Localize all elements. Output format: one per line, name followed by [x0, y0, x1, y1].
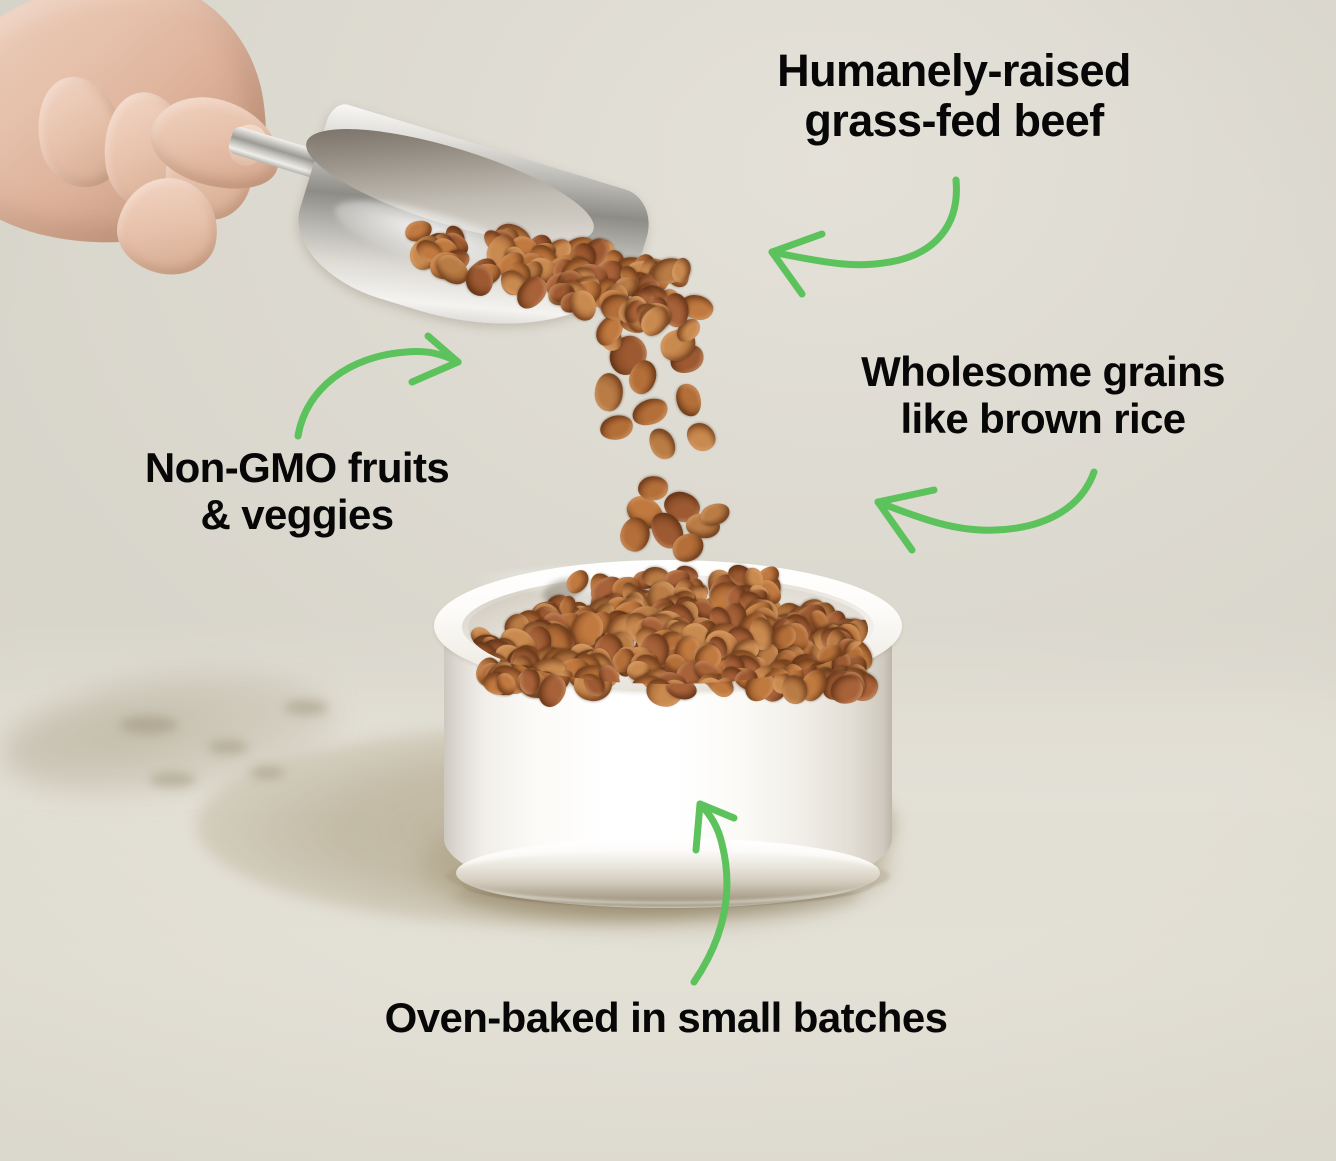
callout-fruits: Non-GMO fruits & veggies — [82, 444, 512, 538]
callout-beef-line1: Humanely-raised — [744, 46, 1164, 96]
kibble-piece — [672, 381, 704, 419]
callout-grains: Wholesome grains like brown rice — [812, 348, 1274, 442]
infographic-canvas: Humanely-raised grass-fed beef Wholesome… — [0, 0, 1336, 1161]
arrow-to-bowl — [648, 788, 798, 988]
arrow-to-scoop-kibble — [740, 176, 1000, 306]
callout-grains-line1: Wholesome grains — [812, 348, 1274, 395]
kibble-in-scoop — [400, 185, 690, 335]
hand-with-scoop — [0, 0, 720, 360]
callout-grains-line2: like brown rice — [812, 395, 1274, 442]
shadow-speck — [150, 772, 196, 787]
callout-fruits-line1: Non-GMO fruits — [82, 444, 512, 491]
callout-oven: Oven-baked in small batches — [296, 994, 1036, 1041]
callout-oven-line1: Oven-baked in small batches — [296, 994, 1036, 1041]
callout-beef-line2: grass-fed beef — [744, 96, 1164, 146]
callout-fruits-line2: & veggies — [82, 491, 512, 538]
shadow-speck — [120, 716, 178, 734]
kibble-piece — [644, 424, 679, 463]
shadow-speck — [284, 700, 328, 715]
kibble-mound-lower — [468, 574, 868, 684]
kibble-piece — [638, 476, 669, 501]
kibble-piece — [681, 417, 721, 456]
kibble-piece — [598, 413, 635, 443]
kibble-piece — [594, 372, 624, 411]
callout-beef: Humanely-raised grass-fed beef — [744, 46, 1164, 147]
kibble-piece — [629, 395, 671, 430]
arrow-to-falling-kibble — [276, 330, 496, 460]
arrow-to-kibble-stream — [858, 458, 1098, 578]
shadow-speck — [208, 740, 248, 754]
